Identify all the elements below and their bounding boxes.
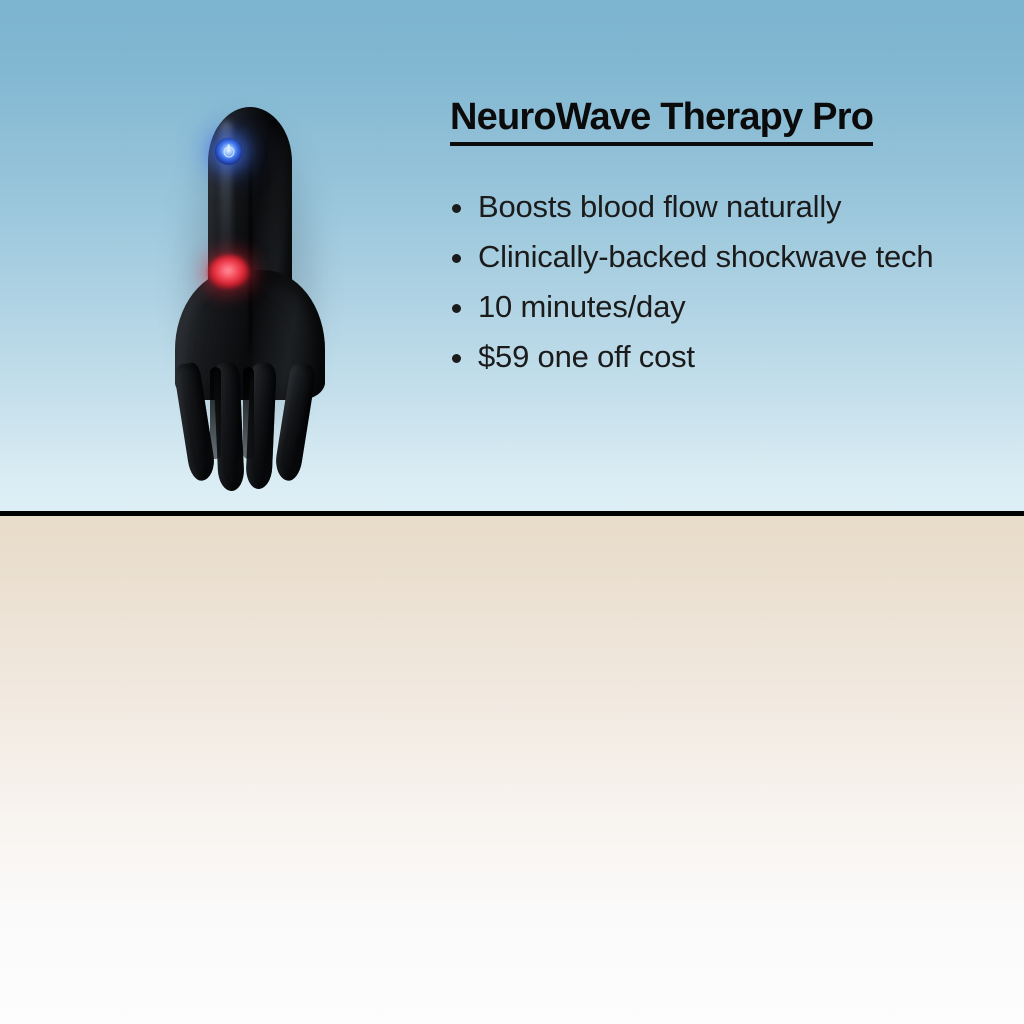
device-seam [249, 135, 252, 380]
top-section-title: NeuroWave Therapy Pro [450, 95, 873, 146]
device-prong-gap-right [243, 367, 254, 459]
bottom-panel-invasive: Invasive ED Treatments Painful (needles,… [0, 516, 1024, 1024]
power-button-led-icon [215, 138, 242, 165]
top-panel-neurowave: NeuroWave Therapy Pro Boosts blood flow … [0, 0, 1024, 511]
list-item: 10 minutes/day [450, 282, 970, 332]
list-item: Clinically-backed shockwave tech [450, 232, 970, 282]
list-item: Boosts blood flow naturally [450, 182, 970, 232]
panel-divider [0, 511, 1024, 516]
red-light-indicator [208, 255, 250, 289]
power-symbol-icon [223, 146, 234, 157]
device-prong-gap-left [210, 367, 221, 459]
top-benefits-list: Boosts blood flow naturally Clinically-b… [450, 182, 990, 382]
list-item: $59 one off cost [450, 332, 970, 382]
infographic-canvas: NeuroWave Therapy Pro Boosts blood flow … [0, 0, 1024, 1024]
neurowave-device-illustration [150, 95, 350, 470]
top-text-block: NeuroWave Therapy Pro Boosts blood flow … [450, 95, 990, 382]
